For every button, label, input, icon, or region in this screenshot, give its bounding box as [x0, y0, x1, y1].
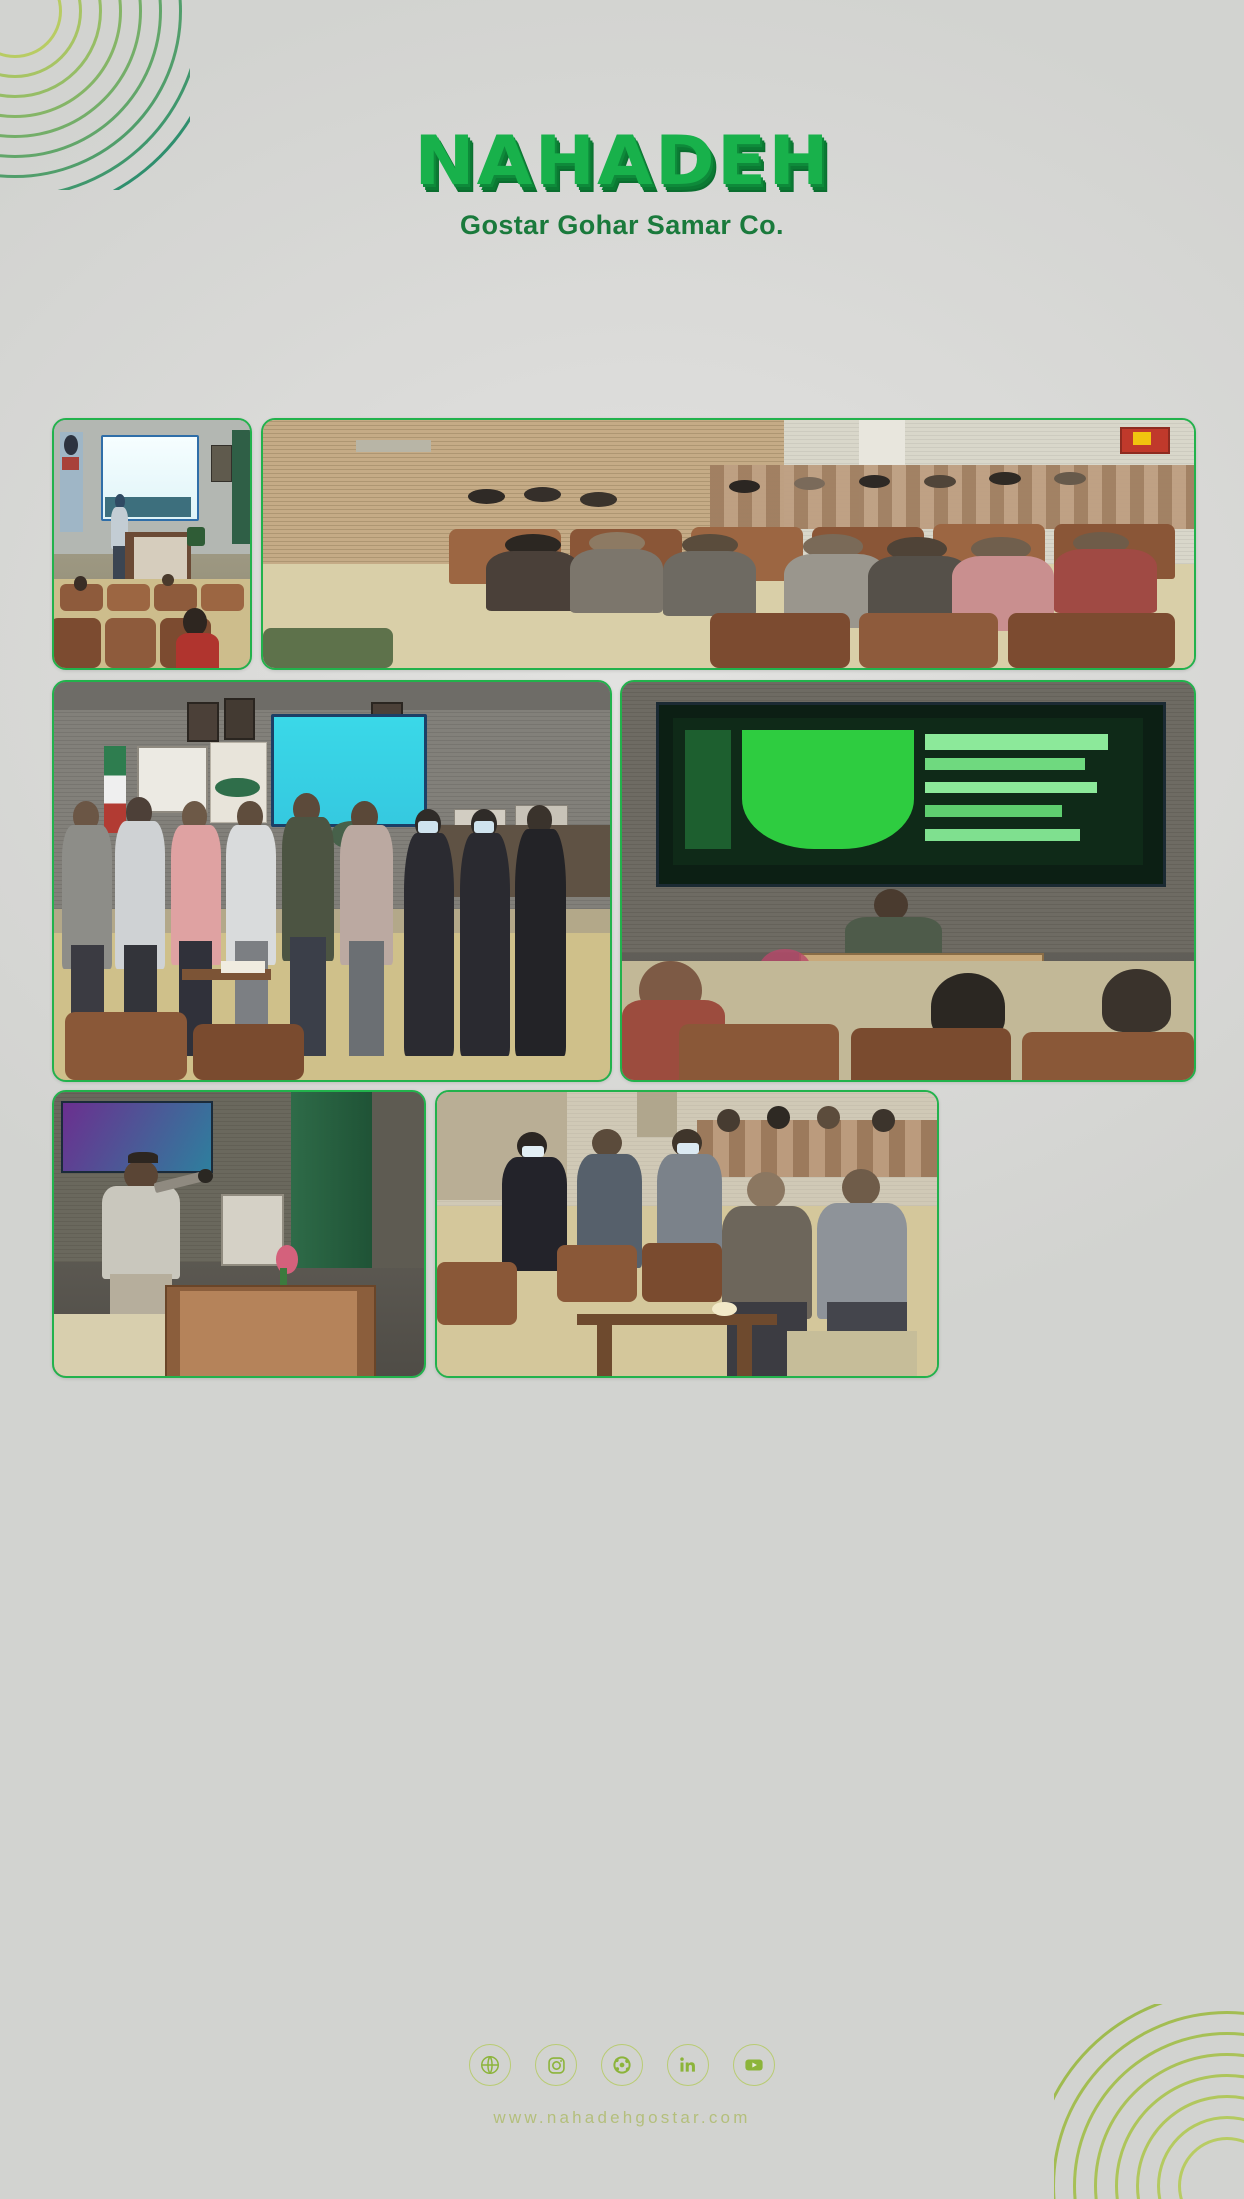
poster-canvas: NAHADEH Gostar Gohar Samar Co.	[0, 0, 1244, 2199]
arc-ring	[1157, 2116, 1244, 2199]
arc-ring	[0, 0, 122, 118]
youtube-icon[interactable]	[733, 2044, 775, 2086]
brand-logo-wordmark: NAHADEH	[414, 128, 830, 196]
instagram-icon[interactable]	[535, 2044, 577, 2086]
photo-presenter-with-microphone	[52, 1090, 426, 1378]
photo-lecture-hall-presenter-wide	[52, 418, 252, 670]
linkedin-icon[interactable]	[667, 2044, 709, 2086]
brand-tagline: Gostar Gohar Samar Co.	[0, 210, 1244, 241]
brand-header: NAHADEH Gostar Gohar Samar Co.	[0, 128, 1244, 241]
footer: www.nahadehgostar.com	[0, 2044, 1244, 2128]
photo-audience-seated-rows	[261, 418, 1196, 670]
social-links	[0, 2044, 1244, 2086]
arc-ring	[0, 0, 102, 98]
photo-attendees-listening	[435, 1090, 939, 1378]
website-icon[interactable]	[469, 2044, 511, 2086]
arc-ring	[0, 0, 142, 138]
arc-ring	[1178, 2137, 1244, 2199]
website-url[interactable]: www.nahadehgostar.com	[0, 2108, 1244, 2128]
photo-speaker-at-podium-with-slide	[620, 680, 1196, 1082]
photo-group-photo-on-stage	[52, 680, 612, 1082]
aparat-icon[interactable]	[601, 2044, 643, 2086]
arc-ring	[0, 0, 62, 58]
photo-collage	[52, 418, 1192, 1936]
arc-ring	[0, 0, 82, 78]
